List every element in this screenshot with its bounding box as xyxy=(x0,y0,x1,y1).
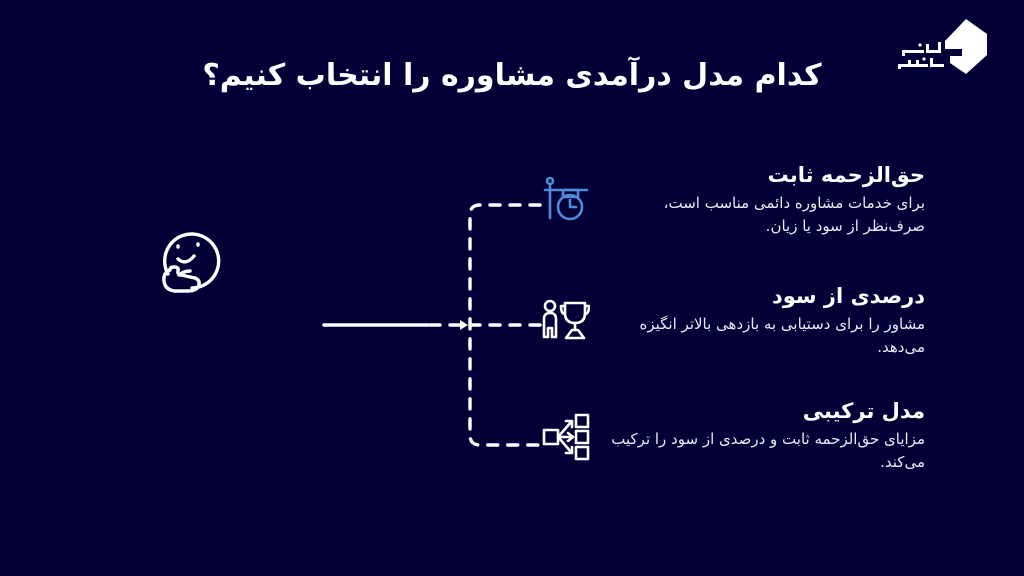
item-description: برای خدمات مشاوره دائمی مناسب است، صرف‌ن… xyxy=(607,192,925,238)
item-text-block: درصدی از سود مشاور را برای دستیابی به با… xyxy=(607,283,925,359)
item-title: حق‌الزحمه ثابت xyxy=(607,162,925,188)
list-item[interactable]: مدل ترکیبی مزایای حق‌الزحمه ثابت و درصدی… xyxy=(540,398,925,490)
person-trophy-icon xyxy=(540,297,590,347)
list-item[interactable]: حق‌الزحمه ثابت برای خدمات مشاوره دائمی م… xyxy=(540,162,925,254)
page-title: کدام مدل درآمدی مشاوره را انتخاب کنیم؟ xyxy=(0,58,1024,93)
branching-hierarchy-icon xyxy=(542,412,592,462)
connector-lines xyxy=(310,180,570,460)
item-title: درصدی از سود xyxy=(607,283,925,309)
item-text-block: مدل ترکیبی مزایای حق‌الزحمه ثابت و درصدی… xyxy=(607,398,925,474)
list-item[interactable]: درصدی از سود مشاور را برای دستیابی به با… xyxy=(540,283,925,375)
item-description: مشاور را برای دستیابی به بازدهی بالاتر ا… xyxy=(607,313,925,359)
item-title: مدل ترکیبی xyxy=(607,398,925,424)
slide-canvas: کدام مدل درآمدی مشاوره را انتخاب کنیم؟ xyxy=(0,0,1024,576)
thinking-face-icon xyxy=(148,212,240,300)
item-description: مزایای حق‌الزحمه ثابت و درصدی از سود را … xyxy=(607,428,925,474)
hanging-clock-sign-icon xyxy=(543,174,593,224)
item-text-block: حق‌الزحمه ثابت برای خدمات مشاوره دائمی م… xyxy=(607,162,925,238)
